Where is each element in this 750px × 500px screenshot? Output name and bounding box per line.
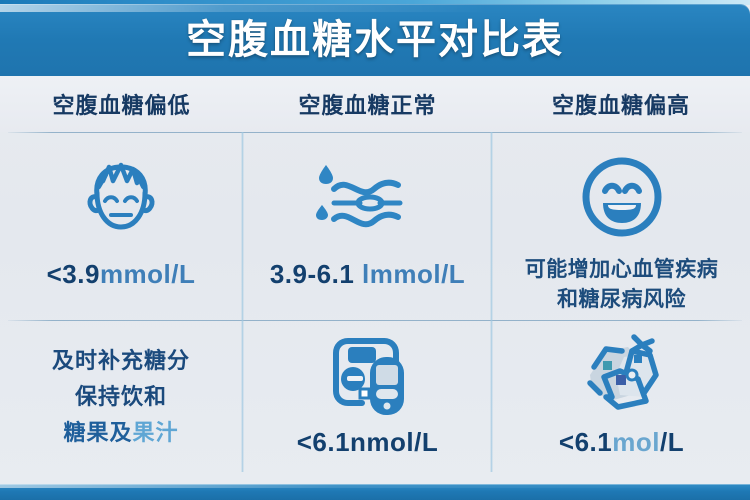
low-advice-line-3: 糖果及果汁 bbox=[52, 415, 190, 451]
low-advice-text: 及时补充糖分 保持饮和 糖果及果汁 bbox=[52, 343, 190, 451]
value-high-advice: <6.1mol/L bbox=[559, 427, 684, 458]
column-header-normal: 空腹血糖正常 bbox=[243, 76, 492, 132]
low-advice-line-1: 及时补充糖分 bbox=[52, 343, 190, 379]
value-normal-advice-number: <6.1 bbox=[297, 427, 350, 457]
value-normal-number: 3.9-6.1 bbox=[270, 259, 362, 289]
bottom-bar-gloss bbox=[0, 484, 750, 488]
cell-low-level: <3.9mmol/L bbox=[0, 133, 242, 320]
value-low-unit: mmol/L bbox=[100, 259, 195, 289]
value-normal-advice-unit: nmol/L bbox=[350, 427, 438, 457]
abstract-polygon-icon bbox=[572, 331, 672, 417]
cell-normal-level: 3.9-6.1 lmmol/L bbox=[244, 133, 491, 320]
cell-high-level: 可能增加心血管疾病 和糖尿病风险 bbox=[493, 133, 750, 320]
glucose-meter-icon bbox=[320, 331, 416, 417]
value-normal-unit: lmmol/L bbox=[362, 259, 465, 289]
smiley-face-icon bbox=[576, 151, 668, 243]
cell-low-advice: 及时补充糖分 保持饮和 糖果及果汁 bbox=[0, 321, 242, 484]
poster-root: 空腹血糖水平对比表 空腹血糖偏低 空腹血糖正常 空腹血糖偏高 bbox=[0, 0, 750, 500]
bottom-accent-bar bbox=[0, 484, 750, 500]
value-high-advice-number: <6.1 bbox=[559, 427, 612, 457]
value-high-advice-unit-dark: /L bbox=[660, 427, 684, 457]
header-banner: 空腹血糖水平对比表 bbox=[0, 4, 750, 76]
cell-normal-advice: <6.1nmol/L bbox=[244, 321, 491, 484]
low-advice-line-3-dark: 糖果及 bbox=[63, 420, 132, 445]
cell-high-advice: <6.1mol/L bbox=[493, 321, 750, 484]
high-risk-description: 可能增加心血管疾病 和糖尿病风险 bbox=[525, 255, 719, 315]
value-normal: 3.9-6.1 lmmol/L bbox=[270, 259, 465, 290]
high-risk-line-2: 和糖尿病风险 bbox=[525, 285, 719, 315]
low-advice-line-3-lite: 果汁 bbox=[132, 420, 178, 445]
comparison-grid: <3.9mmol/L bbox=[0, 132, 750, 484]
blood-flow-droplet-icon bbox=[308, 151, 428, 243]
low-advice-line-2: 保持饮和 bbox=[52, 379, 190, 415]
high-risk-line-1: 可能增加心血管疾病 bbox=[525, 255, 719, 285]
sad-face-icon bbox=[73, 151, 169, 243]
value-low: <3.9mmol/L bbox=[47, 259, 196, 290]
value-low-number: <3.9 bbox=[47, 259, 100, 289]
column-header-row: 空腹血糖偏低 空腹血糖正常 空腹血糖偏高 bbox=[0, 76, 750, 132]
value-high-advice-unit-lite: mol bbox=[612, 427, 660, 457]
value-normal-advice: <6.1nmol/L bbox=[297, 427, 439, 458]
page-title: 空腹血糖水平对比表 bbox=[0, 9, 750, 71]
column-header-high: 空腹血糖偏高 bbox=[492, 76, 750, 132]
column-header-low: 空腹血糖偏低 bbox=[0, 76, 243, 132]
